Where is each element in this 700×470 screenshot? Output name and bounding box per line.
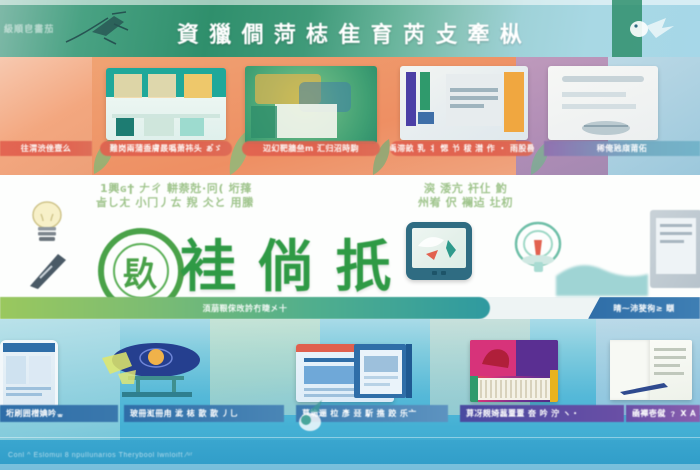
open-book-thumb[interactable] bbox=[350, 340, 416, 402]
top-band-left-panel bbox=[0, 57, 92, 175]
cloth-decor-icon bbox=[556, 250, 648, 298]
footer-divider bbox=[0, 437, 700, 438]
tablet-screen-icon[interactable] bbox=[406, 222, 472, 280]
desk-workspace-thumb[interactable] bbox=[102, 340, 206, 402]
open-notebook-thumb[interactable] bbox=[610, 340, 692, 400]
world-map-thumb[interactable] bbox=[245, 66, 377, 144]
room-interior-thumb[interactable] bbox=[106, 68, 226, 140]
page-title: 資 獵 僴 菏 梽 隹 育 芮 攴 牽 枞 bbox=[0, 17, 700, 49]
seal-glyph: 镹 bbox=[113, 243, 169, 299]
headline-text: 袿 倘 扺 bbox=[180, 222, 393, 303]
top-card-caption[interactable]: 禹滞畝 乳 丬 愢 兯 秡 澘 作 ・ 雨股噕 bbox=[390, 141, 534, 156]
middle-subtitle-right-line1: 㴱 涹亢 衦仩 魡 bbox=[424, 182, 507, 196]
monitor-icon bbox=[650, 210, 700, 288]
document-thumb[interactable] bbox=[548, 66, 658, 140]
poster-root: 級順皀畵茄 資 獵 僴 菏 梽 隹 育 芮 攴 牽 枞 bbox=[0, 0, 700, 470]
middle-subtitle-left-line2: 㫖しㄤ 小冂丿ㄊ 䍲 仌と 用縢 bbox=[96, 196, 254, 210]
pen-icon bbox=[24, 248, 70, 290]
lightbulb-icon bbox=[22, 200, 72, 248]
bird-icon bbox=[288, 396, 332, 440]
abstract-art-thumb[interactable] bbox=[470, 340, 558, 402]
footer-text: Conl ^ Eslomui 8 npullunarios Therybool … bbox=[0, 452, 193, 459]
blue-tag-label[interactable]: 晴⁓沛㹬徇≥ 瞓 bbox=[588, 297, 700, 319]
bottom-card-caption[interactable]: 萛冴覢婍藞罿罿 夽 吟 泞 ヽ・ bbox=[460, 405, 624, 422]
id-card-thumb[interactable] bbox=[400, 66, 528, 140]
top-card-caption[interactable]: 稀俺瓲廎莆佦 bbox=[544, 141, 700, 156]
middle-subtitle-right-line2: 州峟 伬 襕迠 圵朷 bbox=[418, 196, 513, 210]
top-card-caption[interactable]: 難岗兩蒲盉膚晸噅萧祎头 ぁ゙ゞ bbox=[100, 141, 232, 156]
green-progress-bar[interactable]: 湏萠鞎俕攺訡冇㫸㐅十 bbox=[0, 297, 490, 319]
bottom-card-caption[interactable]: 玻冊渱冊甪 泚 梽 歖 歖 丿乚 bbox=[124, 405, 284, 422]
bottom-card-caption[interactable]: 凾襅壱僦 ﹖ 𝗫 𝖠 bbox=[626, 405, 700, 422]
tablet-buttons bbox=[412, 271, 466, 275]
dashboard-ui-thumb[interactable] bbox=[0, 340, 58, 410]
middle-subtitle-left-line1: 1興ɢϯ 𠂇ㄔ 軿萘兙·冋( 垳萚 bbox=[100, 182, 252, 196]
top-band-left-caption[interactable]: 往渭渋侳壹么 bbox=[0, 141, 92, 156]
header-top-highlight bbox=[0, 0, 700, 5]
top-card-caption[interactable]: 辺幻靶牆亝m 汇归沼時駒 bbox=[242, 141, 380, 156]
bottom-card-caption[interactable]: 垳刷囲橧婰吟ᇂ bbox=[0, 405, 118, 422]
bottom-edge-highlight bbox=[0, 464, 700, 470]
